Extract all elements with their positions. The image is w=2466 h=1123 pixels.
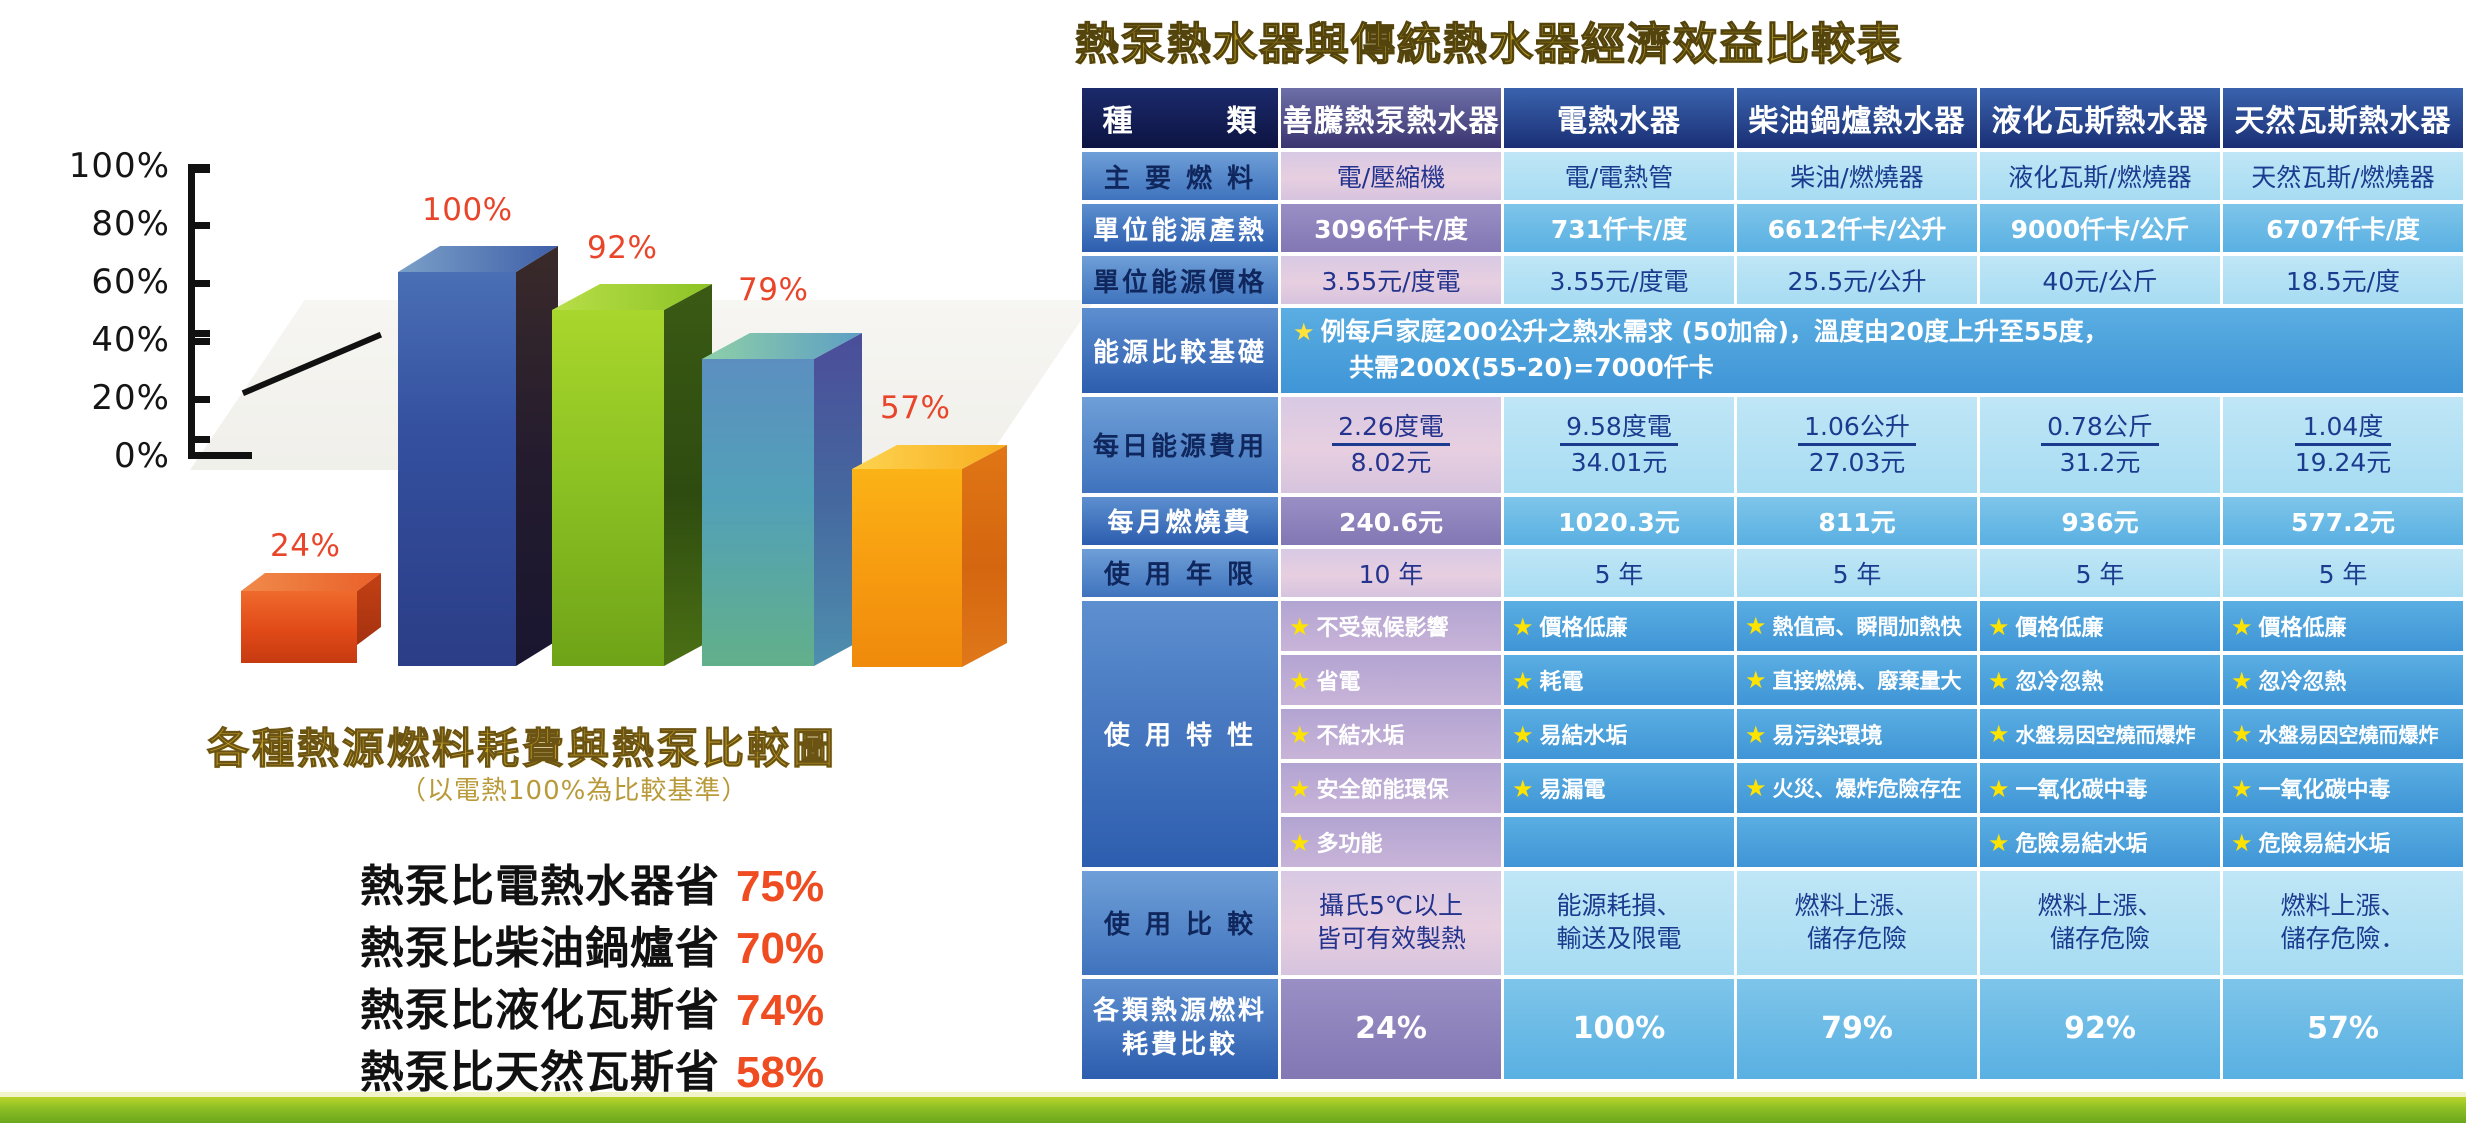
row-label-cost-compare: 各類熱源燃料 耗費比較: [1082, 979, 1278, 1079]
star-icon: ★: [1289, 775, 1311, 803]
star-icon: ★: [1289, 829, 1311, 857]
usage-line-1: 能源耗損、: [1504, 890, 1734, 923]
table-row-unit-price: 單位能源價格 3.55元/度電 3.55元/度電 25.5元/公升 40元/公斤…: [1082, 256, 2463, 304]
bar-value-diesel: 79%: [738, 272, 808, 308]
feature-text: 一氧化碳中毒: [2259, 778, 2391, 803]
chart-subtitle: （以電熱100%為比較基準）: [400, 770, 860, 807]
cell-feature-natural-gas-1: ★價格低廉: [2223, 601, 2463, 651]
feature-text: 一氧化碳中毒: [2016, 778, 2148, 803]
cell-monthly-cost-electric: 1020.3元: [1504, 497, 1734, 545]
tick-40: [188, 338, 210, 345]
y-axis-label-0: 0%: [40, 436, 170, 476]
cell-lifespan-electric: 5 年: [1504, 549, 1734, 597]
table-row-basis: 能源比較基礎 ★例每戶家庭200公升之熱水需求 (50加侖)，溫度由20度上升至…: [1082, 308, 2463, 393]
savings-percent: 70%: [736, 924, 824, 974]
cell-monthly-cost-diesel: 811元: [1737, 497, 1977, 545]
savings-percent: 58%: [736, 1048, 824, 1098]
star-icon: ★: [2231, 829, 2253, 857]
savings-label: 熱泵比電熱水器省: [360, 850, 720, 914]
y-axis-label-60: 60%: [40, 262, 170, 302]
cell-usage-compare-heat-pump: 攝氏5℃以上 皆可有效製熱: [1281, 871, 1501, 975]
cell-feature-diesel-4: ★火災、爆炸危險存在: [1737, 763, 1977, 813]
feature-text: 不受氣候影響: [1317, 616, 1449, 641]
cell-feature-natural-gas-5: ★危險易結水垢: [2223, 817, 2463, 867]
cell-feature-heat-pump-3: ★不結水垢: [1281, 709, 1501, 759]
table-row-monthly-cost: 每月燃燒費 240.6元 1020.3元 811元 936元 577.2元: [1082, 497, 2463, 545]
cell-cost-compare-heat-pump: 24%: [1281, 979, 1501, 1079]
bar-electric: [398, 246, 558, 666]
feature-text: 不結水垢: [1317, 724, 1405, 749]
cell-main-fuel-lpg: 液化瓦斯/燃燒器: [1980, 152, 2220, 200]
cell-heat-output-heat-pump: 3096仟卡/度: [1281, 204, 1501, 252]
bar-side: [962, 445, 1007, 667]
daily-energy-amount: 0.78公斤: [2041, 412, 2159, 446]
cell-feature-heat-pump-5: ★多功能: [1281, 817, 1501, 867]
daily-energy-price: 19.24元: [2295, 446, 2392, 478]
feature-text: 危險易結水垢: [2259, 832, 2391, 857]
table-row-features-5: ★多功能 ★危險易結水垢 ★危險易結水垢: [1082, 817, 2463, 867]
cell-daily-cost-heat-pump: 2.26度電 8.02元: [1281, 397, 1501, 493]
star-icon: ★: [2231, 720, 2253, 748]
feature-text: 耗電: [1540, 670, 1584, 695]
daily-energy-price: 27.03元: [1798, 446, 1916, 478]
header-heat-pump: 善騰熱泵熱水器: [1281, 88, 1501, 148]
feature-text: 易漏電: [1540, 778, 1606, 803]
star-icon: ★: [1289, 613, 1311, 641]
usage-line-1: 燃料上漲、: [1737, 890, 1977, 923]
daily-energy-amount: 9.58度電: [1560, 412, 1678, 446]
cell-feature-electric-4: ★易漏電: [1504, 763, 1734, 813]
table-row-main-fuel: 主 要 燃 料 電/壓縮機 電/電熱管 柴油/燃燒器 液化瓦斯/燃燒器 天然瓦斯…: [1082, 152, 2463, 200]
cell-main-fuel-heat-pump: 電/壓縮機: [1281, 152, 1501, 200]
cell-usage-compare-lpg: 燃料上漲、 儲存危險: [1980, 871, 2220, 975]
cell-feature-heat-pump-4: ★安全節能環保: [1281, 763, 1501, 813]
tick-100: [188, 164, 210, 171]
bar-heat-pump: [241, 573, 381, 663]
comparison-table: 種 類 善騰熱泵熱水器 電熱水器 柴油鍋爐熱水器 液化瓦斯熱水器 天然瓦斯熱水器…: [1079, 84, 2466, 1083]
cell-cost-compare-lpg: 92%: [1980, 979, 2220, 1079]
cell-basis-note: ★例每戶家庭200公升之熱水需求 (50加侖)，溫度由20度上升至55度， 共需…: [1281, 308, 2463, 393]
header-lpg: 液化瓦斯熱水器: [1980, 88, 2220, 148]
daily-energy-amount: 1.06公升: [1798, 412, 1916, 446]
feature-text: 價格低廉: [2259, 616, 2347, 641]
star-icon: ★: [1745, 774, 1767, 802]
cell-main-fuel-electric: 電/電熱管: [1504, 152, 1734, 200]
bar-face: [852, 469, 962, 667]
table-header-row: 種 類 善騰熱泵熱水器 電熱水器 柴油鍋爐熱水器 液化瓦斯熱水器 天然瓦斯熱水器: [1082, 88, 2463, 148]
cell-main-fuel-natural-gas: 天然瓦斯/燃燒器: [2223, 152, 2463, 200]
cell-main-fuel-diesel: 柴油/燃燒器: [1737, 152, 1977, 200]
usage-line-2: 儲存危險: [1737, 923, 1977, 956]
cell-lifespan-diesel: 5 年: [1737, 549, 1977, 597]
star-icon: ★: [1289, 667, 1311, 695]
cell-unit-price-lpg: 40元/公斤: [1980, 256, 2220, 304]
usage-line-1: 燃料上漲、: [1980, 890, 2220, 923]
cell-feature-heat-pump-2: ★省電: [1281, 655, 1501, 705]
table-row-cost-compare: 各類熱源燃料 耗費比較 24% 100% 79% 92% 57%: [1082, 979, 2463, 1079]
y-axis-label-40: 40%: [40, 320, 170, 360]
row-label-lifespan: 使 用 年 限: [1082, 549, 1278, 597]
header-electric: 電熱水器: [1504, 88, 1734, 148]
star-icon: ★: [2231, 775, 2253, 803]
cell-feature-electric-2: ★耗電: [1504, 655, 1734, 705]
cell-monthly-cost-lpg: 936元: [1980, 497, 2220, 545]
feature-text: 火災、爆炸危險存在: [1773, 777, 1962, 801]
cell-daily-cost-lpg: 0.78公斤 31.2元: [1980, 397, 2220, 493]
star-icon: ★: [1745, 721, 1767, 749]
star-icon: ★: [1512, 775, 1534, 803]
row-label-unit-price: 單位能源價格: [1082, 256, 1278, 304]
cell-heat-output-lpg: 9000仟卡/公斤: [1980, 204, 2220, 252]
cell-cost-compare-diesel: 79%: [1737, 979, 1977, 1079]
cell-lifespan-heat-pump: 10 年: [1281, 549, 1501, 597]
table-title: 熱泵熱水器與傳統熱水器經濟效益比較表: [1075, 8, 1903, 72]
daily-energy-amount: 2.26度電: [1332, 412, 1450, 446]
y-axis-label-100: 100%: [40, 146, 170, 186]
bottom-green-band: [0, 1097, 2466, 1123]
star-icon: ★: [1512, 667, 1534, 695]
feature-text: 價格低廉: [2016, 616, 2104, 641]
star-icon: ★: [1988, 613, 2010, 641]
cell-usage-compare-natural-gas: 燃料上漲、 儲存危險．: [2223, 871, 2463, 975]
daily-energy-amount: 1.04度: [2295, 412, 2392, 446]
table-row-features-4: ★安全節能環保 ★易漏電 ★火災、爆炸危險存在 ★一氧化碳中毒 ★一氧化碳中毒: [1082, 763, 2463, 813]
savings-percent: 75%: [736, 862, 824, 912]
row-label-basis: 能源比較基礎: [1082, 308, 1278, 393]
cost-compare-label-line1: 各類熱源燃料: [1082, 995, 1278, 1029]
bar-face: [702, 359, 814, 666]
y-axis-stem: [188, 166, 195, 454]
feature-text: 水盤易因空燒而爆炸: [2016, 723, 2196, 747]
star-icon: ★: [1289, 721, 1311, 749]
daily-energy-price: 31.2元: [2041, 446, 2159, 478]
row-label-features: 使 用 特 性: [1082, 601, 1278, 867]
usage-line-2: 輸送及限電: [1504, 923, 1734, 956]
usage-line-2: 皆可有效製熱: [1281, 923, 1501, 956]
basis-line-1: 例每戶家庭200公升之熱水需求 (50加侖)，溫度由20度上升至55度，: [1321, 317, 2109, 346]
cell-feature-diesel-3: ★易污染環境: [1737, 709, 1977, 759]
cell-lifespan-natural-gas: 5 年: [2223, 549, 2463, 597]
bar-face: [552, 310, 664, 666]
feature-text: 水盤易因空燒而爆炸: [2259, 723, 2439, 747]
feature-text: 省電: [1317, 670, 1361, 695]
basis-line-2: 共需200X(55-20)=7000仟卡: [1293, 350, 2451, 386]
table-row-features-1: 使 用 特 性 ★不受氣候影響 ★價格低廉 ★熱值高、瞬間加熱快 ★價格低廉 ★…: [1082, 601, 2463, 651]
row-label-main-fuel: 主 要 燃 料: [1082, 152, 1278, 200]
star-icon: ★: [1988, 720, 2010, 748]
cell-feature-lpg-3: ★水盤易因空燒而爆炸: [1980, 709, 2220, 759]
usage-line-1: 燃料上漲、: [2223, 890, 2463, 923]
table-row-usage-compare: 使 用 比 較 攝氏5℃以上 皆可有效製熱 能源耗損、 輸送及限電 燃料上漲、 …: [1082, 871, 2463, 975]
savings-row: 熱泵比液化瓦斯省 74%: [360, 974, 824, 1032]
cell-feature-diesel-5: [1737, 817, 1977, 867]
header-diesel: 柴油鍋爐熱水器: [1737, 88, 1977, 148]
x-axis-front: [188, 452, 252, 459]
feature-text: 多功能: [1317, 832, 1383, 857]
feature-text: 忽冷忽熱: [2016, 670, 2104, 695]
star-icon: ★: [1293, 318, 1315, 346]
star-icon: ★: [2231, 667, 2253, 695]
cell-unit-price-natural-gas: 18.5元/度: [2223, 256, 2463, 304]
bar-diesel: [702, 333, 862, 666]
table-row-lifespan: 使 用 年 限 10 年 5 年 5 年 5 年 5 年: [1082, 549, 2463, 597]
row-label-monthly-cost: 每月燃燒費: [1082, 497, 1278, 545]
bar-face: [398, 272, 516, 666]
row-label-usage-compare: 使 用 比 較: [1082, 871, 1278, 975]
feature-text: 危險易結水垢: [2016, 832, 2148, 857]
cell-feature-heat-pump-1: ★不受氣候影響: [1281, 601, 1501, 651]
cell-feature-lpg-2: ★忽冷忽熱: [1980, 655, 2220, 705]
bar-face: [241, 591, 357, 663]
cell-feature-lpg-4: ★一氧化碳中毒: [1980, 763, 2220, 813]
bar-value-lpg: 92%: [587, 230, 657, 266]
star-icon: ★: [1745, 666, 1767, 694]
cost-compare-label-line2: 耗費比較: [1082, 1029, 1278, 1063]
star-icon: ★: [1512, 613, 1534, 641]
feature-text: 直接燃燒、廢棄量大: [1773, 669, 1962, 693]
cell-feature-electric-5: [1504, 817, 1734, 867]
star-icon: ★: [2231, 613, 2253, 641]
feature-text: 熱值高、瞬間加熱快: [1773, 615, 1962, 639]
bar-value-heat-pump: 24%: [270, 528, 340, 564]
cell-monthly-cost-heat-pump: 240.6元: [1281, 497, 1501, 545]
feature-text: 易結水垢: [1540, 724, 1628, 749]
comparison-table-panel: 熱泵熱水器與傳統熱水器經濟效益比較表 種 類 善騰熱泵熱水器 電熱水器 柴油鍋爐…: [1075, 0, 2466, 1095]
cell-feature-diesel-2: ★直接燃燒、廢棄量大: [1737, 655, 1977, 705]
cell-unit-price-diesel: 25.5元/公升: [1737, 256, 1977, 304]
savings-label: 熱泵比液化瓦斯省: [360, 974, 720, 1038]
cell-feature-electric-3: ★易結水垢: [1504, 709, 1734, 759]
y-axis-label-20: 20%: [40, 378, 170, 418]
bar-lpg: [552, 284, 712, 666]
savings-label: 熱泵比柴油鍋爐省: [360, 912, 720, 976]
chart-title: 各種熱源燃料耗費與熱泵比較圖: [207, 715, 847, 776]
cell-unit-price-electric: 3.55元/度電: [1504, 256, 1734, 304]
star-icon: ★: [1988, 667, 2010, 695]
cell-heat-output-natural-gas: 6707仟卡/度: [2223, 204, 2463, 252]
cell-cost-compare-electric: 100%: [1504, 979, 1734, 1079]
feature-text: 安全節能環保: [1317, 778, 1449, 803]
cell-usage-compare-diesel: 燃料上漲、 儲存危險: [1737, 871, 1977, 975]
cell-feature-diesel-1: ★熱值高、瞬間加熱快: [1737, 601, 1977, 651]
cell-heat-output-electric: 731仟卡/度: [1504, 204, 1734, 252]
cell-lifespan-lpg: 5 年: [1980, 549, 2220, 597]
y-axis-label-80: 80%: [40, 204, 170, 244]
feature-text: 忽冷忽熱: [2259, 670, 2347, 695]
table-row-features-3: ★不結水垢 ★易結水垢 ★易污染環境 ★水盤易因空燒而爆炸 ★水盤易因空燒而爆炸: [1082, 709, 2463, 759]
tick-20: [188, 396, 210, 403]
star-icon: ★: [1745, 612, 1767, 640]
cell-monthly-cost-natural-gas: 577.2元: [2223, 497, 2463, 545]
table-row-heat-output: 單位能源產熱 3096仟卡/度 731仟卡/度 6612仟卡/公升 9000仟卡…: [1082, 204, 2463, 252]
cell-daily-cost-electric: 9.58度電 34.01元: [1504, 397, 1734, 493]
usage-line-2: 儲存危險．: [2223, 923, 2463, 956]
cell-daily-cost-diesel: 1.06公升 27.03元: [1737, 397, 1977, 493]
cell-feature-natural-gas-4: ★一氧化碳中毒: [2223, 763, 2463, 813]
cell-feature-lpg-5: ★危險易結水垢: [1980, 817, 2220, 867]
savings-percent: 74%: [736, 986, 824, 1036]
savings-row: 熱泵比柴油鍋爐省 70%: [360, 912, 824, 970]
savings-label: 熱泵比天然瓦斯省: [360, 1036, 720, 1100]
savings-list: 熱泵比電熱水器省 75% 熱泵比柴油鍋爐省 70% 熱泵比液化瓦斯省 74% 熱…: [360, 850, 824, 1098]
usage-line-1: 攝氏5℃以上: [1281, 890, 1501, 923]
tick-80: [188, 222, 210, 229]
table-row-daily-cost: 每日能源費用 2.26度電 8.02元 9.58度電 34.01元 1.06公升: [1082, 397, 2463, 493]
row-label-heat-output: 單位能源產熱: [1082, 204, 1278, 252]
cell-feature-lpg-1: ★價格低廉: [1980, 601, 2220, 651]
tick-60: [188, 280, 210, 287]
header-natural-gas: 天然瓦斯熱水器: [2223, 88, 2463, 148]
daily-energy-price: 34.01元: [1560, 446, 1678, 478]
savings-row: 熱泵比電熱水器省 75%: [360, 850, 824, 908]
row-label-daily-cost: 每日能源費用: [1082, 397, 1278, 493]
bar-value-natural-gas: 57%: [880, 390, 950, 426]
cell-feature-natural-gas-2: ★忽冷忽熱: [2223, 655, 2463, 705]
usage-line-2: 儲存危險: [1980, 923, 2220, 956]
daily-energy-price: 8.02元: [1332, 446, 1450, 478]
feature-text: 價格低廉: [1540, 616, 1628, 641]
cell-unit-price-heat-pump: 3.55元/度電: [1281, 256, 1501, 304]
cell-feature-natural-gas-3: ★水盤易因空燒而爆炸: [2223, 709, 2463, 759]
cell-daily-cost-natural-gas: 1.04度 19.24元: [2223, 397, 2463, 493]
header-type: 種 類: [1082, 88, 1278, 148]
cell-heat-output-diesel: 6612仟卡/公升: [1737, 204, 1977, 252]
star-icon: ★: [1988, 775, 2010, 803]
cell-usage-compare-electric: 能源耗損、 輸送及限電: [1504, 871, 1734, 975]
star-icon: ★: [1988, 829, 2010, 857]
cell-cost-compare-natural-gas: 57%: [2223, 979, 2463, 1079]
cell-feature-electric-1: ★價格低廉: [1504, 601, 1734, 651]
bar-value-electric: 100%: [422, 192, 513, 228]
chart-panel: 100% 80% 60% 40% 20% 0% 24% 100% 92% 79%: [0, 0, 1075, 1095]
feature-text: 易污染環境: [1773, 724, 1883, 749]
savings-row: 熱泵比天然瓦斯省 58%: [360, 1036, 824, 1094]
star-icon: ★: [1512, 721, 1534, 749]
bar-natural-gas: [852, 445, 1007, 667]
table-row-features-2: ★省電 ★耗電 ★直接燃燒、廢棄量大 ★忽冷忽熱 ★忽冷忽熱: [1082, 655, 2463, 705]
